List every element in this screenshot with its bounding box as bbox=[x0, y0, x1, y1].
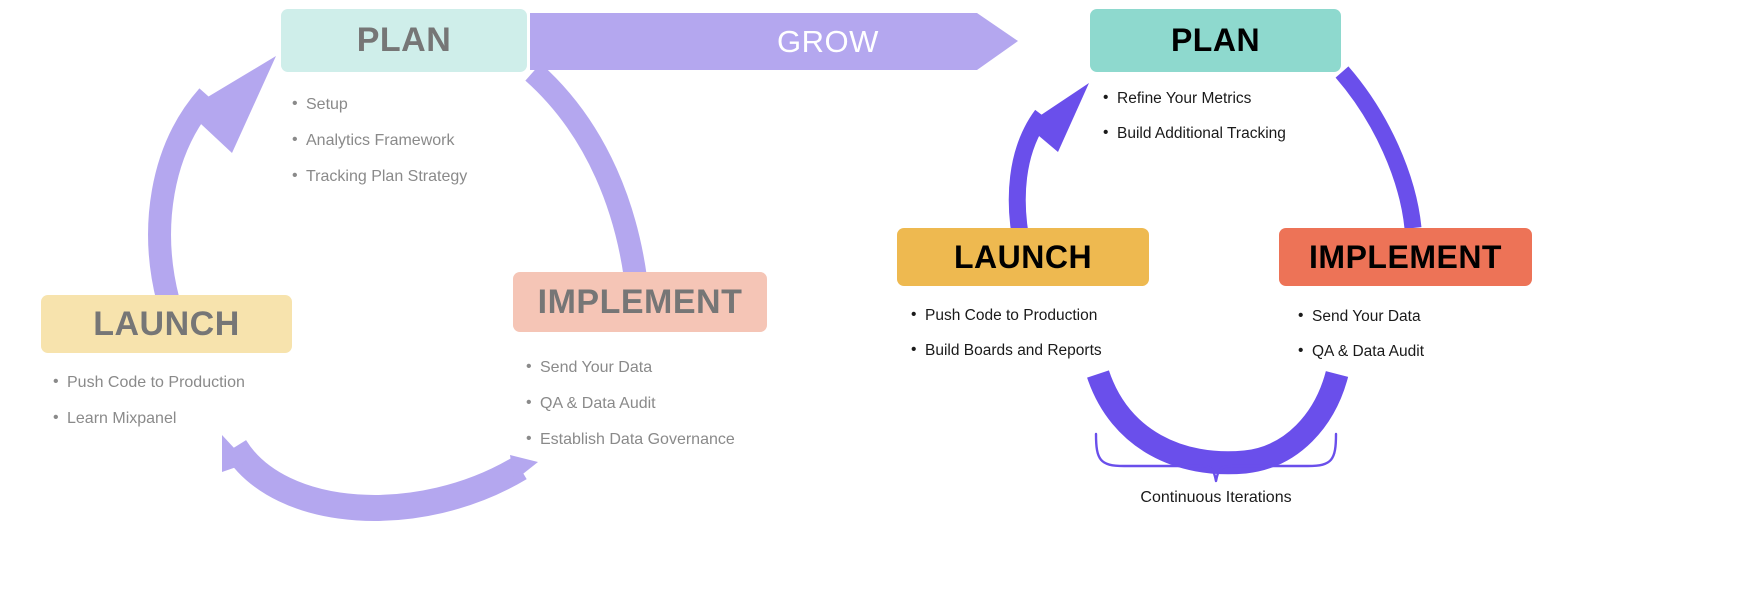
phase-box-implement-right[interactable]: IMPLEMENT bbox=[1279, 228, 1532, 286]
phase-box-implement-left[interactable]: IMPLEMENT bbox=[513, 272, 767, 332]
arrowhead-launch-to-plan-right bbox=[1026, 83, 1089, 152]
phase-title-launch-left: LAUNCH bbox=[93, 305, 240, 344]
arrow-launch-to-plan-left bbox=[160, 96, 208, 300]
phase-box-plan-left[interactable]: PLAN bbox=[281, 9, 527, 72]
bullet-dot-icon: • bbox=[526, 359, 540, 375]
bullet-text: Analytics Framework bbox=[306, 132, 454, 150]
arrow-plan-to-implement-left bbox=[533, 72, 638, 300]
continuous-iterations-brace bbox=[1096, 434, 1336, 481]
bullet-text: Setup bbox=[306, 96, 348, 114]
bullet-list-plan-right: • Refine Your Metrics • Build Additional… bbox=[1103, 90, 1286, 160]
list-item: • Send Your Data bbox=[526, 359, 735, 377]
bullet-dot-icon: • bbox=[911, 307, 925, 323]
list-item: • Learn Mixpanel bbox=[53, 410, 245, 428]
bullet-text: Push Code to Production bbox=[925, 307, 1097, 325]
bullet-text: Send Your Data bbox=[1312, 308, 1421, 326]
bullet-dot-icon: • bbox=[526, 431, 540, 447]
list-item: • Push Code to Production bbox=[53, 374, 245, 392]
list-item: • QA & Data Audit bbox=[526, 395, 735, 413]
list-item: • Build Additional Tracking bbox=[1103, 125, 1286, 143]
arrow-implement-to-launch-left bbox=[235, 447, 520, 508]
bullet-list-plan-left: • Setup • Analytics Framework • Tracking… bbox=[292, 96, 467, 204]
bullet-list-launch-left: • Push Code to Production • Learn Mixpan… bbox=[53, 374, 245, 446]
grow-banner-label: GROW bbox=[777, 24, 879, 60]
list-item: • Send Your Data bbox=[1298, 308, 1424, 326]
list-item: • Setup bbox=[292, 96, 467, 114]
arrowhead-launch-to-plan-left bbox=[186, 56, 276, 153]
bullet-dot-icon: • bbox=[292, 168, 306, 184]
list-item: • Build Boards and Reports bbox=[911, 342, 1102, 360]
phase-box-plan-right[interactable]: PLAN bbox=[1090, 9, 1341, 72]
arrow-implement-to-launch-right bbox=[1098, 374, 1337, 463]
bullet-dot-icon: • bbox=[911, 342, 925, 358]
phase-title-plan-left: PLAN bbox=[357, 21, 452, 60]
bullet-text: Tracking Plan Strategy bbox=[306, 168, 467, 186]
continuous-iterations-label: Continuous Iterations bbox=[1095, 489, 1337, 507]
bullet-list-implement-left: • Send Your Data • QA & Data Audit • Est… bbox=[526, 359, 735, 467]
bullet-dot-icon: • bbox=[53, 374, 67, 390]
bullet-dot-icon: • bbox=[526, 395, 540, 411]
bullet-dot-icon: • bbox=[53, 410, 67, 426]
list-item: • Analytics Framework bbox=[292, 132, 467, 150]
bullet-text: Establish Data Governance bbox=[540, 431, 735, 449]
bullet-dot-icon: • bbox=[292, 96, 306, 112]
bullet-text: Build Boards and Reports bbox=[925, 342, 1102, 360]
bullet-list-launch-right: • Push Code to Production • Build Boards… bbox=[911, 307, 1102, 377]
bullet-text: Build Additional Tracking bbox=[1117, 125, 1286, 143]
phase-title-launch-right: LAUNCH bbox=[954, 239, 1092, 276]
bullet-dot-icon: • bbox=[1298, 343, 1312, 359]
phase-box-launch-right[interactable]: LAUNCH bbox=[897, 228, 1149, 286]
arrow-plan-to-implement-right bbox=[1342, 72, 1413, 228]
phase-title-implement-left: IMPLEMENT bbox=[538, 283, 743, 322]
phase-title-implement-right: IMPLEMENT bbox=[1309, 239, 1502, 276]
phase-title-plan-right: PLAN bbox=[1171, 22, 1260, 59]
bullet-list-implement-right: • Send Your Data • QA & Data Audit bbox=[1298, 308, 1424, 378]
list-item: • Refine Your Metrics bbox=[1103, 90, 1286, 108]
bullet-dot-icon: • bbox=[1103, 125, 1117, 141]
bullet-text: Push Code to Production bbox=[67, 374, 245, 392]
bullet-text: QA & Data Audit bbox=[540, 395, 656, 413]
bullet-text: Send Your Data bbox=[540, 359, 652, 377]
phase-box-launch-left[interactable]: LAUNCH bbox=[41, 295, 292, 353]
list-item: • Tracking Plan Strategy bbox=[292, 168, 467, 186]
list-item: • QA & Data Audit bbox=[1298, 343, 1424, 361]
list-item: • Push Code to Production bbox=[911, 307, 1102, 325]
bullet-dot-icon: • bbox=[1298, 308, 1312, 324]
bullet-dot-icon: • bbox=[1103, 90, 1117, 106]
bullet-text: Refine Your Metrics bbox=[1117, 90, 1251, 108]
grow-banner-arrow bbox=[530, 13, 1018, 70]
list-item: • Establish Data Governance bbox=[526, 431, 735, 449]
bullet-text: QA & Data Audit bbox=[1312, 343, 1424, 361]
bullet-dot-icon: • bbox=[292, 132, 306, 148]
bullet-text: Learn Mixpanel bbox=[67, 410, 176, 428]
cycle-diagram-canvas: PLAN • Setup • Analytics Framework • Tra… bbox=[0, 0, 1740, 589]
